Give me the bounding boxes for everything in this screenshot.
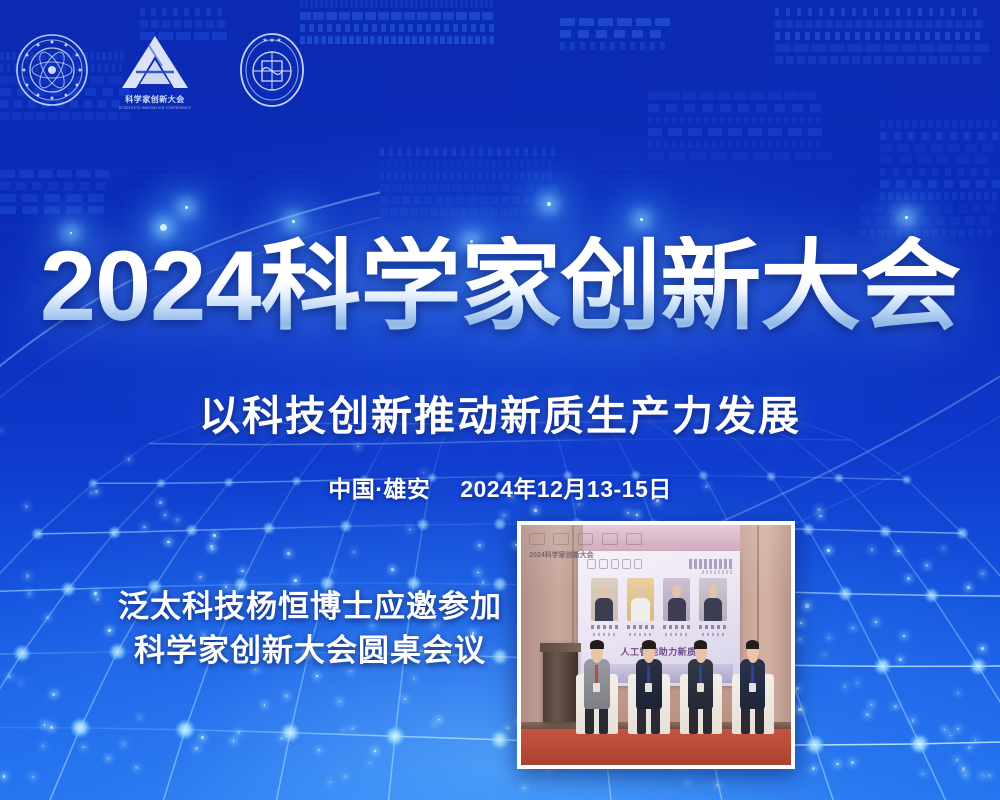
particle (20, 682, 21, 683)
particle (506, 727, 509, 730)
particle (817, 508, 820, 511)
sparkle (185, 206, 188, 209)
photo-content: 人工智能助力新质 (521, 525, 791, 765)
particle (871, 548, 873, 550)
particle (819, 515, 821, 517)
particle (828, 637, 830, 639)
speaker-name-text (627, 625, 654, 629)
speaker-portrait-row (591, 578, 727, 637)
particle (968, 746, 971, 749)
particle (798, 708, 801, 711)
particle (201, 736, 204, 739)
particle (195, 747, 198, 750)
particle (523, 787, 526, 790)
particle (844, 685, 846, 687)
particle (534, 509, 537, 512)
page-subtitle: 以科技创新推动新质生产力发展 (0, 382, 1000, 442)
particle (369, 762, 371, 764)
particle (50, 726, 53, 729)
particle (164, 514, 166, 516)
triangle-logo-caption: 科学家创新大会 (118, 94, 192, 105)
particle (922, 773, 924, 775)
data-block (380, 148, 560, 220)
particle (286, 695, 288, 697)
svg-text:★ ★ ★: ★ ★ ★ (262, 37, 281, 44)
particle (8, 675, 11, 678)
particle (800, 622, 802, 624)
particle (294, 579, 297, 582)
speaker-portrait (699, 578, 726, 621)
particle (343, 730, 344, 731)
particle (280, 737, 283, 740)
speaker-portrait (627, 578, 654, 621)
triangle-logo-subcaption: SCIENTISTS INNOVATION CONFERENCE (118, 106, 192, 110)
particle (897, 550, 900, 553)
speaker-card (699, 578, 726, 637)
panelist (735, 638, 770, 734)
particle (943, 548, 944, 549)
particle (143, 526, 145, 528)
podium (543, 643, 578, 722)
particle (139, 717, 140, 718)
particle (503, 515, 504, 516)
particle (210, 545, 212, 547)
particle (836, 763, 839, 766)
particle (123, 743, 125, 745)
academy-seal-logo (14, 32, 90, 108)
particle (988, 774, 991, 777)
particle (903, 635, 905, 637)
particle (353, 551, 355, 553)
data-block (775, 8, 990, 68)
particle (962, 767, 965, 770)
particle (237, 731, 240, 734)
particle (357, 446, 358, 447)
particle (982, 573, 983, 574)
event-meta: 中国·雄安 2024年12月13-15日 (0, 470, 1000, 504)
particle (824, 654, 825, 655)
particle (627, 512, 629, 514)
speaker-portrait (591, 578, 618, 621)
particle (912, 719, 915, 722)
particle (982, 775, 983, 776)
particle (211, 548, 214, 551)
particle (899, 658, 902, 661)
event-date: 2024年12月13-15日 (460, 476, 672, 502)
particle (965, 775, 966, 776)
panelist (579, 638, 614, 734)
particle (548, 770, 550, 772)
particle (796, 687, 799, 690)
particle (135, 766, 138, 769)
speaker-role-text (593, 633, 616, 636)
particle (805, 604, 808, 607)
photo-banner-logos (529, 532, 653, 545)
particle (177, 519, 178, 520)
particle (25, 505, 28, 508)
particle (264, 704, 266, 706)
particle (967, 586, 970, 589)
particle (852, 627, 855, 630)
particle (46, 616, 49, 619)
particle (438, 719, 440, 721)
particle (477, 572, 478, 573)
particle (96, 598, 99, 601)
event-location: 中国·雄安 (328, 476, 430, 502)
particle (344, 775, 347, 778)
panelist (683, 638, 718, 734)
banner-logo-icon (626, 533, 642, 545)
screen-banner-subtitle (702, 570, 731, 574)
particle (32, 776, 34, 778)
particle (851, 761, 854, 764)
particle (957, 692, 959, 694)
speaker-role-text (702, 633, 725, 636)
banner-logo-icon (602, 533, 618, 545)
particle (812, 767, 815, 770)
sparkle (640, 218, 643, 221)
particle (199, 576, 201, 578)
particle (128, 458, 130, 460)
particle (883, 663, 884, 664)
photo-caption: 泛太科技杨恒博士应邀参加 科学家创新大会圆桌会议 (110, 585, 510, 673)
particle (3, 775, 5, 777)
photo-banner-title: 2024科学家创新大会 (529, 550, 653, 560)
speaker-portrait (663, 578, 690, 621)
particle (875, 621, 877, 623)
speaker-name-text (663, 625, 690, 629)
particle (636, 514, 638, 516)
particle (404, 698, 406, 700)
particle (482, 581, 485, 584)
particle (716, 784, 719, 787)
speaker-name-text (699, 625, 726, 629)
screen-banner-title (689, 559, 731, 568)
particle (351, 727, 354, 730)
particle (26, 574, 29, 577)
particle (894, 705, 897, 708)
banner-logo-icon (553, 533, 569, 545)
data-block (300, 0, 500, 55)
speaker-role-text (665, 633, 688, 636)
particle (52, 693, 55, 696)
particle (316, 675, 318, 677)
particle (799, 638, 801, 640)
particle (56, 692, 57, 693)
particle (957, 728, 959, 730)
sparkle (905, 216, 908, 219)
data-block (560, 18, 670, 54)
particle (108, 758, 109, 759)
particle (434, 724, 435, 725)
particle (866, 713, 869, 716)
particle (167, 541, 169, 543)
particle (113, 533, 115, 535)
speaker-card (627, 578, 654, 637)
particle (975, 739, 977, 741)
page-title: 2024科学家创新大会 (0, 236, 1000, 337)
particle (981, 647, 984, 650)
particle (871, 704, 872, 705)
conference-poster: 科学家创新大会 SCIENTISTS INNOVATION CONFERENCE… (0, 0, 1000, 800)
particle (950, 735, 951, 736)
sparkle (292, 220, 295, 223)
particle (374, 750, 376, 752)
particle (339, 701, 340, 702)
photo-banner: 2024科学家创新大会 (529, 532, 653, 563)
caption-line-1: 泛太科技杨恒博士应邀参加 (110, 585, 510, 629)
particle (926, 565, 927, 566)
particle (478, 544, 481, 547)
particle (29, 593, 31, 595)
roundtable-photo: 人工智能助力新质 (517, 521, 795, 769)
particle (287, 552, 290, 555)
speaker-name-text (591, 625, 618, 629)
sparkle (547, 202, 551, 206)
data-block (880, 120, 1000, 212)
particle (329, 781, 332, 784)
particle (413, 677, 416, 680)
institute-seal-logo: ★ ★ ★ (238, 31, 306, 109)
particle (409, 529, 411, 531)
particle (44, 724, 46, 726)
data-block (0, 170, 110, 225)
particle (956, 759, 957, 760)
title-block: 2024科学家创新大会 (0, 236, 1000, 337)
particle (213, 534, 216, 537)
organizer-logos: 科学家创新大会 SCIENTISTS INNOVATION CONFERENCE… (14, 30, 306, 110)
speaker-card (591, 578, 618, 637)
panelist (631, 638, 666, 734)
particle (82, 746, 85, 749)
particle (907, 577, 910, 580)
triangle-mark-logo: 科学家创新大会 SCIENTISTS INNOVATION CONFERENCE (118, 32, 192, 110)
particle (827, 549, 830, 552)
panelist-row (575, 638, 783, 734)
particle (94, 592, 97, 595)
banner-logo-icon (529, 533, 545, 545)
speaker-role-text (629, 633, 652, 636)
speaker-card (663, 578, 690, 637)
particle (391, 568, 394, 571)
particle (687, 782, 688, 783)
particle (944, 729, 945, 730)
particle (318, 749, 320, 751)
particle (42, 745, 44, 747)
particle (857, 682, 859, 684)
particle (233, 740, 235, 742)
caption-line-2: 科学家创新大会圆桌会议 (110, 629, 510, 673)
particle (332, 571, 333, 572)
particle (241, 570, 243, 572)
banner-logo-icon (578, 533, 594, 545)
stage-floor (521, 729, 791, 765)
data-block (648, 92, 823, 172)
